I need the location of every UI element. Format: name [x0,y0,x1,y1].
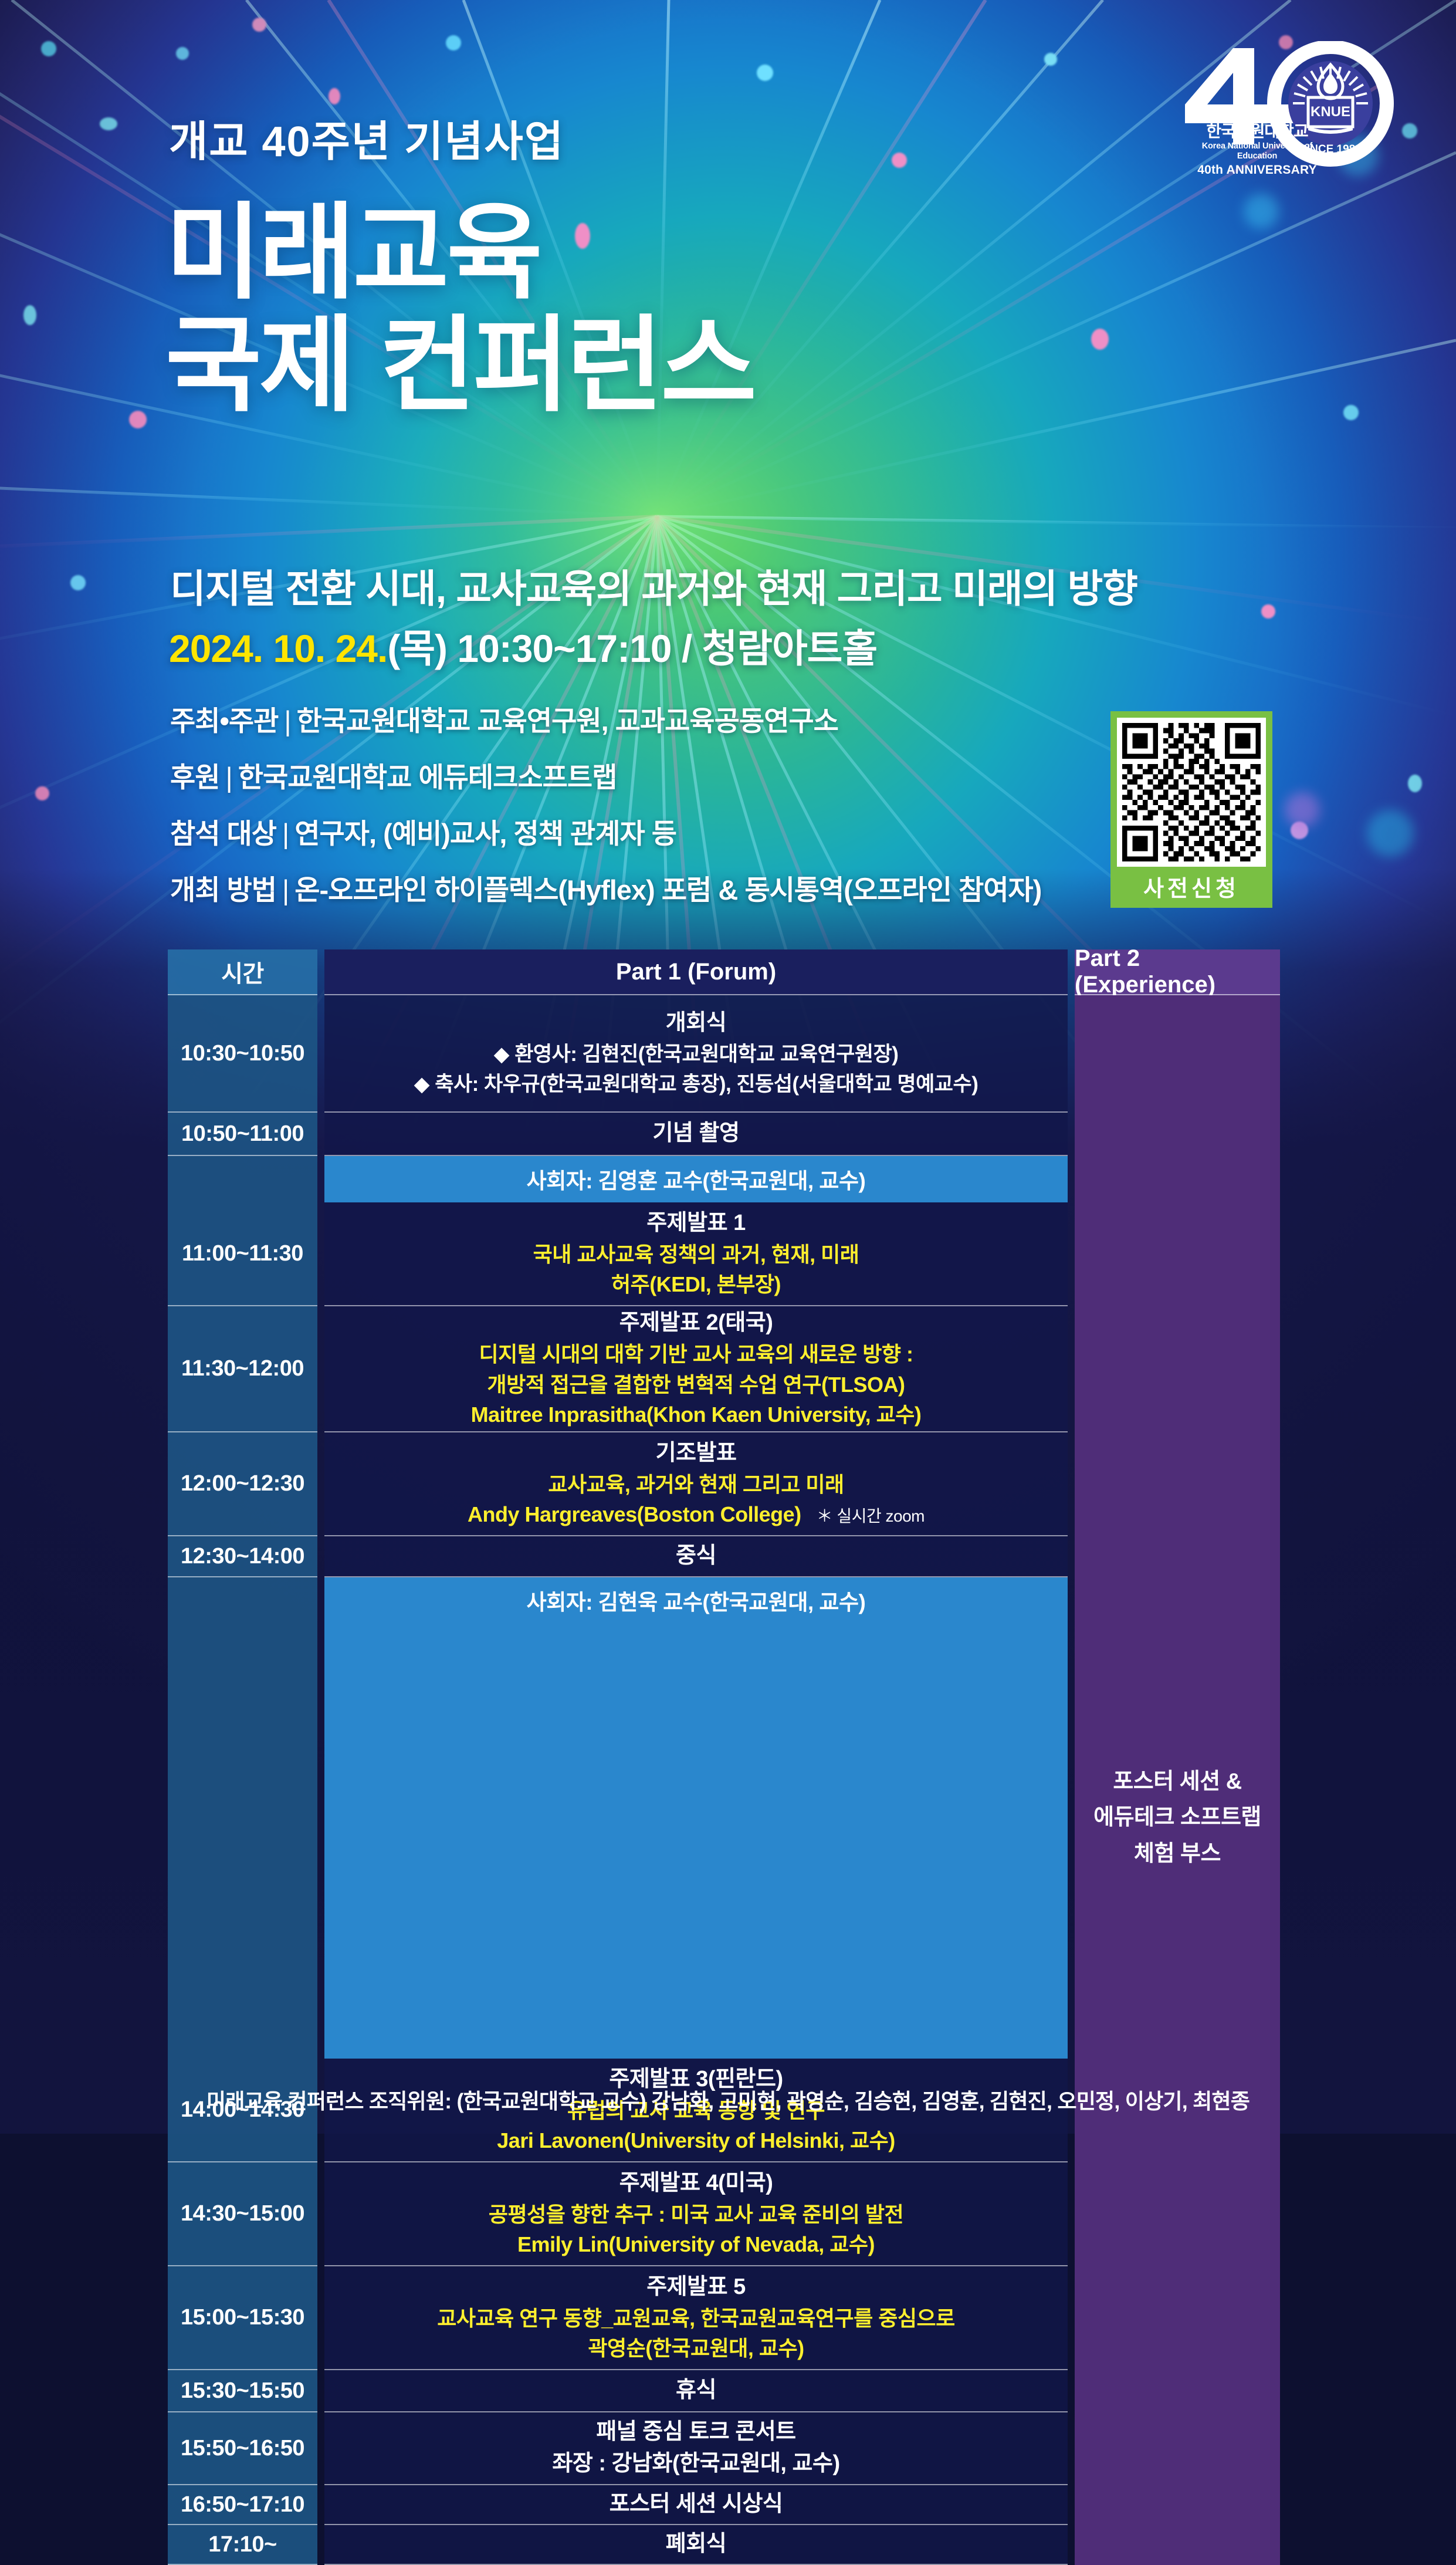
row-content: 주제발표 1 국내 교사교육 정책의 과거, 현재, 미래 허주(KEDI, 본… [324,1202,1068,1306]
event-date: 2024. 10. 24. [169,627,387,670]
session-speaker: Maitree Inprasitha(Khon Kaen University,… [471,1400,922,1430]
qr-code-icon[interactable] [1117,718,1266,867]
part2-spacer [1075,2370,1280,2412]
part2-content: 포스터 세션 & 에듀테크 소프트랩 체험 부스 [1075,1577,1280,2059]
title-line-2: 국제 컨퍼런스 [165,312,754,419]
row-time: 11:30~12:00 [168,1306,317,1432]
table-row: 11:30~12:00 주제발표 2(태국) 디지털 시대의 대학 기반 교사 … [168,1306,1280,1432]
session-title: 개회식 [666,1008,726,1039]
info-separator: | [276,874,294,905]
session-speaker: Emily Lin(University of Nevada, 교수) [517,2229,875,2260]
session-speaker: Andy Hargreaves(Boston College) [468,1499,801,1530]
session-title: 주제발표 2(태국) [619,1307,773,1339]
info-separator: | [219,762,238,793]
session-speaker: Jari Lavonen(University of Helsinki, 교수) [497,2125,895,2156]
table-header-row: 시간 Part 1 (Forum) Part 2 (Experience) [168,949,1280,995]
info-row-host: 주최•주관|한국교원대학교 교육연구원, 교과교육공동연구소 [170,698,1041,739]
session-subject: 교사교육 연구 동향_교원교육, 한국교원교육연구를 중심으로 [437,2303,955,2334]
row-time: 15:50~16:50 [168,2412,317,2485]
logo-english-name: Korea National University of Education [1184,141,1330,160]
part2-spacer [1075,2485,1280,2525]
part2-spacer [1075,995,1280,1113]
session-chair: 좌장 : 강남화(한국교원대, 교수) [552,2448,839,2479]
header-cell-time: 시간 [168,949,317,995]
row-time: 16:50~17:10 [168,2485,317,2525]
session-speaker: 허주(KEDI, 본부장) [611,1269,781,1300]
moderator-label: 사회자: 김현욱 교수(한국교원대, 교수) [324,1577,1068,2059]
organizing-committee-footer: 미래교육 컨퍼런스 조직위원: (한국교원대학교 교수) 강남화, 고미현, 곽… [0,2084,1456,2115]
table-row: 15:30~15:50 휴식 [168,2370,1280,2412]
row-content: 포스터 세션 시상식 [324,2485,1068,2525]
moderator-row-1: 사회자: 김영훈 교수(한국교원대, 교수) [168,1156,1280,1202]
info-label: 개최 방법 [170,874,276,905]
row-content: 휴식 [324,2370,1068,2412]
info-separator: | [278,705,296,736]
session-title: 포스터 세션 시상식 [610,2489,783,2520]
part2-line-2: 에듀테크 소프트랩 [1093,1800,1261,1836]
moderator-time-spacer [168,1577,317,2059]
logo-korean-name: 한국교원대학교 [1184,122,1330,140]
table-row: 15:00~15:30 주제발표 5 교사교육 연구 동향_교원교육, 한국교원… [168,2266,1280,2370]
info-label: 주최•주관 [170,705,278,736]
info-label: 후원 [170,762,219,793]
table-row: 12:30~14:00 중식 [168,1536,1280,1577]
table-row: 10:50~11:00 기념 촬영 [168,1113,1280,1156]
session-speaker: 곽영순(한국교원대, 교수) [588,2333,804,2364]
row-content: 기념 촬영 [324,1113,1068,1156]
part2-line-3: 체험 부스 [1134,1836,1221,1873]
session-subject-line-1: 디지털 시대의 대학 기반 교사 교육의 새로운 방향 : [479,1339,913,1370]
info-row-sponsor: 후원|한국교원대학교 에듀테크소프트랩 [170,755,1041,795]
row-content: 패널 중심 토크 콘서트 좌장 : 강남화(한국교원대, 교수) [324,2412,1068,2485]
info-label: 참석 대상 [170,818,276,849]
session-title: 패널 중심 토크 콘서트 [596,2417,795,2448]
session-note: ＊ 실시간 zoom [817,1503,925,1527]
part2-spacer [1075,1432,1280,1536]
info-row-format: 개최 방법|온-오프라인 하이플렉스(Hyflex) 포럼 & 동시통역(오프라… [170,867,1041,908]
session-title: 기조발표 [656,1438,737,1469]
session-title: 주제발표 4(미국) [619,2168,773,2199]
schedule-table: 시간 Part 1 (Forum) Part 2 (Experience) 10… [168,949,1280,2565]
row-content: 기조발표 교사교육, 과거와 현재 그리고 미래 Andy Hargreaves… [324,1432,1068,1536]
part2-spacer [1075,1536,1280,1577]
table-row: 14:30~15:00 주제발표 4(미국) 공평성을 향한 추구 : 미국 교… [168,2162,1280,2266]
session-title: 주제발표 1 [646,1208,746,1239]
info-separator: | [276,818,294,849]
row-content: 주제발표 5 교사교육 연구 동향_교원교육, 한국교원교육연구를 중심으로 곽… [324,2266,1068,2370]
knue-logo: KNUE SINCE 1984 한국교원대학교 Korea National U… [1177,28,1435,175]
event-datetime: 2024. 10. 24.(목) 10:30~17:10 / 청람아트홀 [169,617,877,674]
row-time: 15:30~15:50 [168,2370,317,2412]
row-time: 11:00~11:30 [168,1202,317,1306]
info-value: 한국교원대학교 에듀테크소프트랩 [238,762,617,793]
eyebrow-text: 개교 40주년 기념사업 [169,107,564,168]
session-subject: 공평성을 향한 추구 : 미국 교사 교육 준비의 발전 [489,2199,903,2230]
header-cell-part2: Part 2 (Experience) [1075,949,1280,995]
header-cell-part1: Part 1 (Forum) [324,949,1068,995]
row-time: 17:10~ [168,2525,317,2565]
row-time: 12:00~12:30 [168,1432,317,1536]
session-bullet: ◆ 축사: 차우규(한국교원대학교 총장), 진동섭(서울대학교 명예교수) [414,1069,978,1099]
row-time: 15:00~15:30 [168,2266,317,2370]
table-row: 15:50~16:50 패널 중심 토크 콘서트 좌장 : 강남화(한국교원대,… [168,2412,1280,2485]
row-time: 12:30~14:00 [168,1536,317,1577]
part2-spacer [1075,2162,1280,2266]
info-value: 온-오프라인 하이플렉스(Hyflex) 포럼 & 동시통역(오프라인 참여자) [294,874,1041,905]
moderator-row-2: 사회자: 김현욱 교수(한국교원대, 교수) 포스터 세션 & 에듀테크 소프트… [168,1577,1280,2059]
table-row: 17:10~ 폐회식 [168,2525,1280,2565]
session-subject: 국내 교사교육 정책의 과거, 현재, 미래 [533,1239,859,1270]
part2-spacer [1075,2412,1280,2485]
part2-line-1: 포스터 세션 & [1113,1764,1241,1800]
table-row: 16:50~17:10 포스터 세션 시상식 [168,2485,1280,2525]
registration-qr-block[interactable]: 사전신청 [1110,711,1272,908]
part2-spacer [1075,1156,1280,1202]
logo-anniversary: 40th ANNIVERSARY [1184,163,1330,177]
svg-text:KNUE: KNUE [1311,104,1350,120]
session-title: 폐회식 [666,2529,726,2560]
table-row: 11:00~11:30 주제발표 1 국내 교사교육 정책의 과거, 현재, 미… [168,1202,1280,1306]
part2-spacer [1075,2266,1280,2370]
row-time: 14:30~15:00 [168,2162,317,2266]
row-time: 10:30~10:50 [168,995,317,1113]
row-time: 10:50~11:00 [168,1113,317,1156]
part2-spacer [1075,2525,1280,2565]
table-row: 10:30~10:50 개회식 ◆ 환영사: 김현진(한국교원대학교 교육연구원… [168,995,1280,1113]
part2-spacer [1075,1202,1280,1306]
table-row: 12:00~12:30 기조발표 교사교육, 과거와 현재 그리고 미래 And… [168,1432,1280,1536]
session-subject-line-2: 개방적 접근을 결합한 변혁적 수업 연구(TLSOA) [487,1370,905,1400]
session-title: 휴식 [676,2375,716,2406]
session-title: 기념 촬영 [653,1118,740,1149]
session-title: 중식 [676,1540,716,1572]
info-value: 한국교원대학교 교육연구원, 교과교육공동연구소 [297,705,838,736]
session-bullet: ◆ 환영사: 김현진(한국교원대학교 교육연구원장) [494,1039,899,1069]
row-content: 주제발표 4(미국) 공평성을 향한 추구 : 미국 교사 교육 준비의 발전 … [324,2162,1068,2266]
event-time-venue: (목) 10:30~17:10 / 청람아트홀 [387,627,877,670]
part2-spacer [1075,1306,1280,1432]
row-content: 폐회식 [324,2525,1068,2565]
title-line-1: 미래교육 [165,194,540,311]
qr-label[interactable]: 사전신청 [1117,867,1266,908]
session-subject: 교사교육, 과거와 현재 그리고 미래 [548,1469,844,1500]
event-info-block: 주최•주관|한국교원대학교 교육연구원, 교과교육공동연구소 후원|한국교원대학… [170,698,1041,924]
subtitle: 디지털 전환 시대, 교사교육의 과거와 현재 그리고 미래의 방향 [170,557,1137,614]
info-value: 연구자, (예비)교사, 정책 관계자 등 [294,818,676,849]
part2-cell: 포스터 세션 & 에듀테크 소프트랩 체험 부스 [1075,1577,1280,2059]
page-title: 미래교육 국제 컨퍼런스 [165,200,754,418]
session-title: 주제발표 5 [646,2272,746,2303]
row-content: 주제발표 2(태국) 디지털 시대의 대학 기반 교사 교육의 새로운 방향 :… [324,1306,1068,1432]
part2-spacer [1075,1113,1280,1156]
moderator-label: 사회자: 김영훈 교수(한국교원대, 교수) [324,1156,1068,1202]
row-content: 개회식 ◆ 환영사: 김현진(한국교원대학교 교육연구원장) ◆ 축사: 차우규… [324,995,1068,1113]
row-content: 중식 [324,1536,1068,1577]
moderator-time-spacer [168,1156,317,1202]
info-row-audience: 참석 대상|연구자, (예비)교사, 정책 관계자 등 [170,811,1041,851]
